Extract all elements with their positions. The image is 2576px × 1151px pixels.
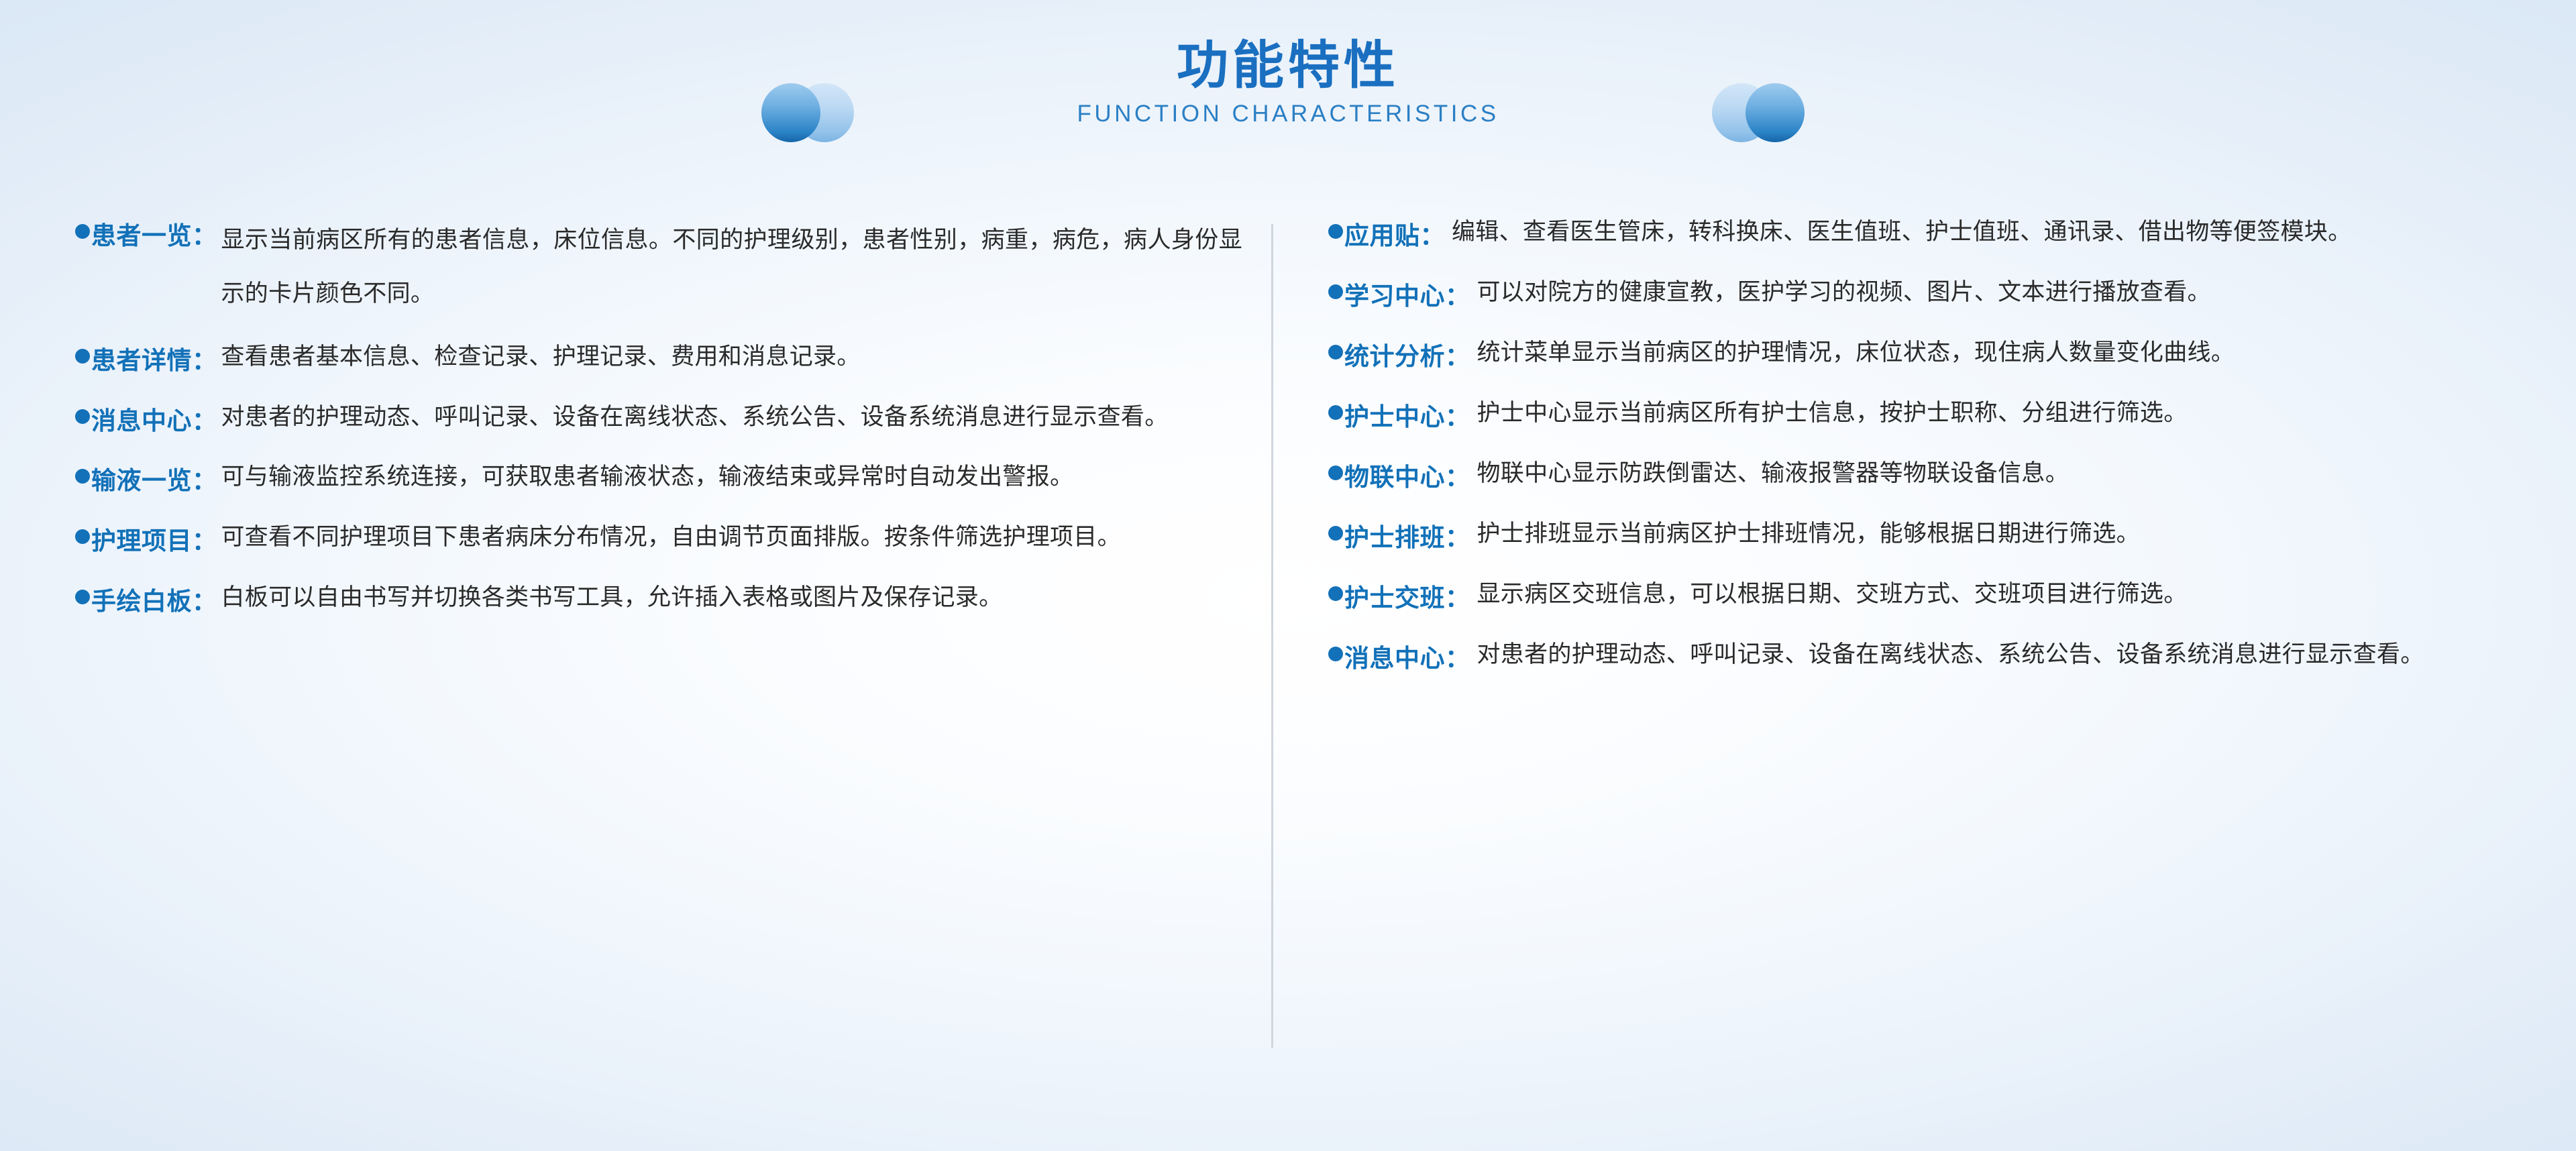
feature-item: 手绘白板：白板可以自由书写并切换各类书写工具，允许插入表格或图片及保存记录。 [75, 579, 1242, 622]
bullet-icon [1328, 586, 1343, 601]
feature-label: 学习中心： [1344, 276, 1470, 317]
feature-columns: 患者一览：显示当前病区所有的患者信息，床位信息。不同的护理级别，患者性别，病重，… [0, 213, 2576, 1072]
feature-label-group: 患者一览： [75, 213, 217, 256]
bullet-icon [75, 529, 90, 544]
feature-description: 统计菜单显示当前病区的护理情况，床位状态，现住病人数量变化曲线。 [1470, 334, 2510, 372]
feature-label-group: 患者详情： [75, 338, 217, 381]
feature-label-group: 输液一览： [75, 458, 217, 501]
bullet-icon [1328, 284, 1343, 299]
feature-label-group: 统计分析： [1328, 334, 1470, 377]
circle-dark-icon [761, 83, 820, 142]
feature-item: 患者详情：查看患者基本信息、检查记录、护理记录、费用和消息记录。 [75, 338, 1242, 381]
page-title: 功能特性 [818, 39, 1758, 94]
feature-label-group: 消息中心： [1328, 636, 1470, 679]
bullet-icon [1328, 224, 1343, 239]
feature-item: 护士排班：护士排班显示当前病区护士排班情况，能够根据日期进行筛选。 [1328, 515, 2509, 558]
bullet-icon [75, 590, 90, 604]
feature-item: 物联中心：物联中心显示防跌倒雷达、输液报警器等物联设备信息。 [1328, 455, 2509, 498]
feature-label-group: 学习中心： [1328, 274, 1470, 317]
feature-description: 可与输液监控系统连接，可获取患者输液状态，输液结束或异常时自动发出警报。 [217, 458, 1243, 496]
bullet-icon [75, 349, 90, 364]
feature-label: 护理项目： [91, 521, 217, 561]
bullet-icon [1328, 405, 1343, 420]
feature-label: 消息中心： [91, 401, 217, 441]
header: 功能特性 FUNCTION CHARACTERISTICS [0, 0, 2576, 181]
feature-label: 患者详情： [91, 341, 217, 381]
circle-dark-icon [1746, 83, 1805, 142]
page-subtitle: FUNCTION CHARACTERISTICS [818, 101, 1758, 127]
feature-description: 查看患者基本信息、检查记录、护理记录、费用和消息记录。 [217, 338, 1243, 376]
feature-description: 护士排班显示当前病区护士排班情况，能够根据日期进行筛选。 [1470, 515, 2510, 553]
feature-label: 护士中心： [1344, 397, 1470, 437]
feature-label: 护士排班： [1344, 518, 1470, 558]
bullet-icon [75, 469, 90, 484]
slide-root: 功能特性 FUNCTION CHARACTERISTICS 患者一览：显示当前病… [0, 0, 2576, 1151]
feature-description: 对患者的护理动态、呼叫记录、设备在离线状态、系统公告、设备系统消息进行显示查看。 [217, 398, 1243, 437]
title-block: 功能特性 FUNCTION CHARACTERISTICS [818, 39, 1758, 127]
feature-description: 可查看不同护理项目下患者病床分布情况，自由调节页面排版。按条件筛选护理项目。 [217, 518, 1243, 557]
feature-item: 护士交班：显示病区交班信息，可以根据日期、交班方式、交班项目进行筛选。 [1328, 575, 2509, 618]
column-divider [1271, 224, 1273, 1048]
bullet-icon [1328, 465, 1343, 480]
feature-label: 护士交班： [1344, 578, 1470, 618]
bullet-icon [75, 409, 90, 424]
feature-item: 护理项目：可查看不同护理项目下患者病床分布情况，自由调节页面排版。按条件筛选护理… [75, 518, 1242, 561]
feature-item: 消息中心：对患者的护理动态、呼叫记录、设备在离线状态、系统公告、设备系统消息进行… [75, 398, 1242, 441]
feature-item: 学习中心：可以对院方的健康宣教，医护学习的视频、图片、文本进行播放查看。 [1328, 274, 2509, 317]
feature-label: 消息中心： [1344, 639, 1470, 679]
feature-description: 对患者的护理动态、呼叫记录、设备在离线状态、系统公告、设备系统消息进行显示查看。 [1470, 636, 2510, 674]
feature-label: 物联中心： [1344, 457, 1470, 498]
feature-description: 显示当前病区所有的患者信息，床位信息。不同的护理级别，患者性别，病重，病危，病人… [217, 213, 1243, 321]
decoration-circles-right [1712, 83, 1833, 145]
feature-item: 消息中心：对患者的护理动态、呼叫记录、设备在离线状态、系统公告、设备系统消息进行… [1328, 636, 2509, 679]
feature-item: 患者一览：显示当前病区所有的患者信息，床位信息。不同的护理级别，患者性别，病重，… [75, 213, 1242, 321]
feature-description: 可以对院方的健康宣教，医护学习的视频、图片、文本进行播放查看。 [1470, 274, 2510, 312]
feature-label-group: 应用贴： [1328, 213, 1445, 256]
feature-label-group: 手绘白板： [75, 579, 217, 622]
feature-item: 统计分析：统计菜单显示当前病区的护理情况，床位状态，现住病人数量变化曲线。 [1328, 334, 2509, 377]
bullet-icon [75, 224, 90, 239]
bullet-icon [1328, 647, 1343, 661]
bullet-icon [1328, 526, 1343, 541]
feature-item: 应用贴：编辑、查看医生管床，转科换床、医生值班、护士值班、通讯录、借出物等便签模… [1328, 213, 2509, 256]
feature-label-group: 护士排班： [1328, 515, 1470, 558]
feature-label-group: 护士中心： [1328, 394, 1470, 437]
feature-description: 物联中心显示防跌倒雷达、输液报警器等物联设备信息。 [1470, 455, 2510, 493]
feature-description: 护士中心显示当前病区所有护士信息，按护士职称、分组进行筛选。 [1470, 394, 2510, 433]
feature-label: 应用贴： [1344, 216, 1445, 256]
feature-item: 护士中心：护士中心显示当前病区所有护士信息，按护士职称、分组进行筛选。 [1328, 394, 2509, 437]
feature-label: 输液一览： [91, 461, 217, 501]
feature-description: 白板可以自由书写并切换各类书写工具，允许插入表格或图片及保存记录。 [217, 579, 1243, 617]
feature-description: 编辑、查看医生管床，转科换床、医生值班、护士值班、通讯录、借出物等便签模块。 [1445, 213, 2509, 252]
feature-item: 输液一览：可与输液监控系统连接，可获取患者输液状态，输液结束或异常时自动发出警报… [75, 458, 1242, 501]
feature-label: 患者一览： [91, 216, 217, 256]
feature-label-group: 护理项目： [75, 518, 217, 561]
feature-column-right: 应用贴：编辑、查看医生管床，转科换床、医生值班、护士值班、通讯录、借出物等便签模… [1328, 213, 2509, 679]
feature-label-group: 消息中心： [75, 398, 217, 441]
feature-label: 手绘白板： [91, 582, 217, 622]
feature-label: 统计分析： [1344, 337, 1470, 377]
bullet-icon [1328, 345, 1343, 360]
feature-column-left: 患者一览：显示当前病区所有的患者信息，床位信息。不同的护理级别，患者性别，病重，… [75, 213, 1242, 622]
feature-label-group: 护士交班： [1328, 575, 1470, 618]
feature-description: 显示病区交班信息，可以根据日期、交班方式、交班项目进行筛选。 [1470, 575, 2510, 614]
feature-label-group: 物联中心： [1328, 455, 1470, 498]
